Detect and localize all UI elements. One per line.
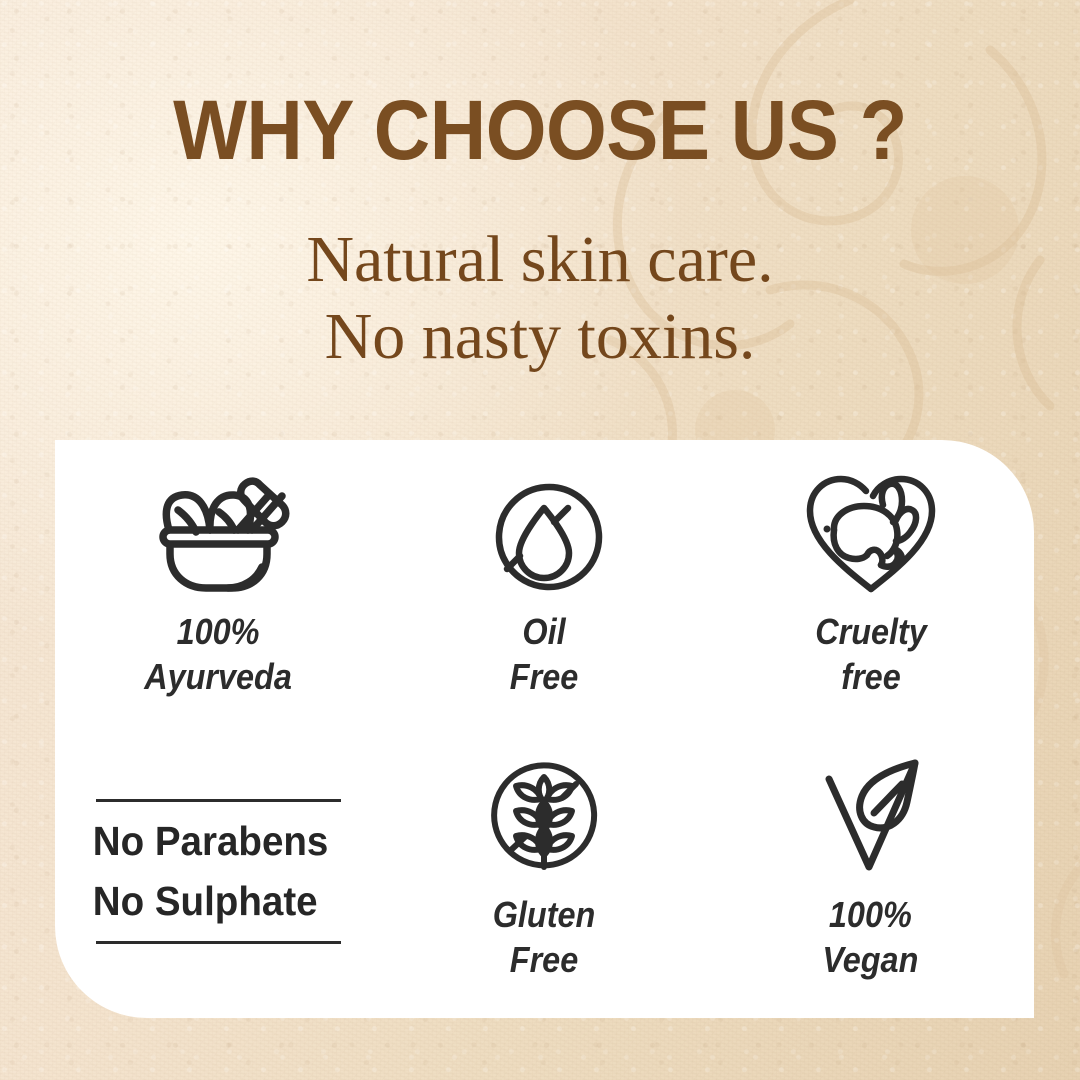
no-parabens-text-block: No Parabens No Sulphate bbox=[89, 751, 348, 1018]
no-parabens-line1: No Parabens bbox=[93, 812, 329, 871]
badge-ayurveda: 100% Ayurveda bbox=[55, 440, 381, 729]
no-parabens-box: No Parabens No Sulphate bbox=[89, 791, 348, 952]
subtitle-line-2: No nasty toxins. bbox=[0, 299, 1080, 376]
badge-label: Cruelty free bbox=[815, 610, 927, 699]
benefits-card: 100% Ayurveda Oil Free bbox=[55, 440, 1034, 1018]
badge-label-line1: Cruelty bbox=[815, 610, 927, 655]
gluten-free-wheat-no-icon bbox=[480, 751, 608, 879]
badge-label: 100% Vegan bbox=[823, 893, 919, 982]
badge-vegan: 100% Vegan bbox=[708, 729, 1034, 1018]
badge-label-line2: Free bbox=[510, 655, 578, 700]
badge-label: 100% Ayurveda bbox=[144, 610, 292, 699]
no-parabens-line2: No Sulphate bbox=[93, 872, 329, 931]
badge-label: Gluten Free bbox=[493, 893, 596, 982]
badge-no-parabens: No Parabens No Sulphate bbox=[55, 729, 381, 1018]
subtitle-line-1: Natural skin care. bbox=[0, 222, 1080, 299]
badge-label-line2: free bbox=[815, 655, 927, 700]
badge-gluten-free: Gluten Free bbox=[381, 729, 707, 1018]
cruelty-free-rabbit-heart-icon bbox=[800, 468, 942, 596]
badge-label-line1: 100% bbox=[144, 610, 292, 655]
page-title: WHY CHOOSE US ? bbox=[38, 88, 1042, 172]
badge-label-line1: Gluten bbox=[493, 893, 596, 938]
benefits-grid: 100% Ayurveda Oil Free bbox=[55, 440, 1034, 1018]
no-parabens-text: No Parabens No Sulphate bbox=[89, 802, 332, 941]
oil-free-droplet-no-icon bbox=[480, 468, 608, 596]
vegan-leaf-v-icon bbox=[807, 751, 935, 879]
badge-label-line2: Vegan bbox=[823, 938, 919, 983]
badge-label-line2: Ayurveda bbox=[144, 655, 292, 700]
poster-canvas: WHY CHOOSE US ? Natural skin care. No na… bbox=[0, 0, 1080, 1080]
badge-cruelty-free: Cruelty free bbox=[708, 440, 1034, 729]
badge-label-line2: Free bbox=[493, 938, 596, 983]
badge-label: Oil Free bbox=[510, 610, 578, 699]
mortar-pestle-herbs-icon bbox=[134, 468, 302, 596]
rule-bottom bbox=[96, 941, 341, 944]
badge-oil-free: Oil Free bbox=[381, 440, 707, 729]
page-subtitle: Natural skin care. No nasty toxins. bbox=[0, 222, 1080, 375]
badge-label-line1: 100% bbox=[823, 893, 919, 938]
badge-label-line1: Oil bbox=[510, 610, 578, 655]
